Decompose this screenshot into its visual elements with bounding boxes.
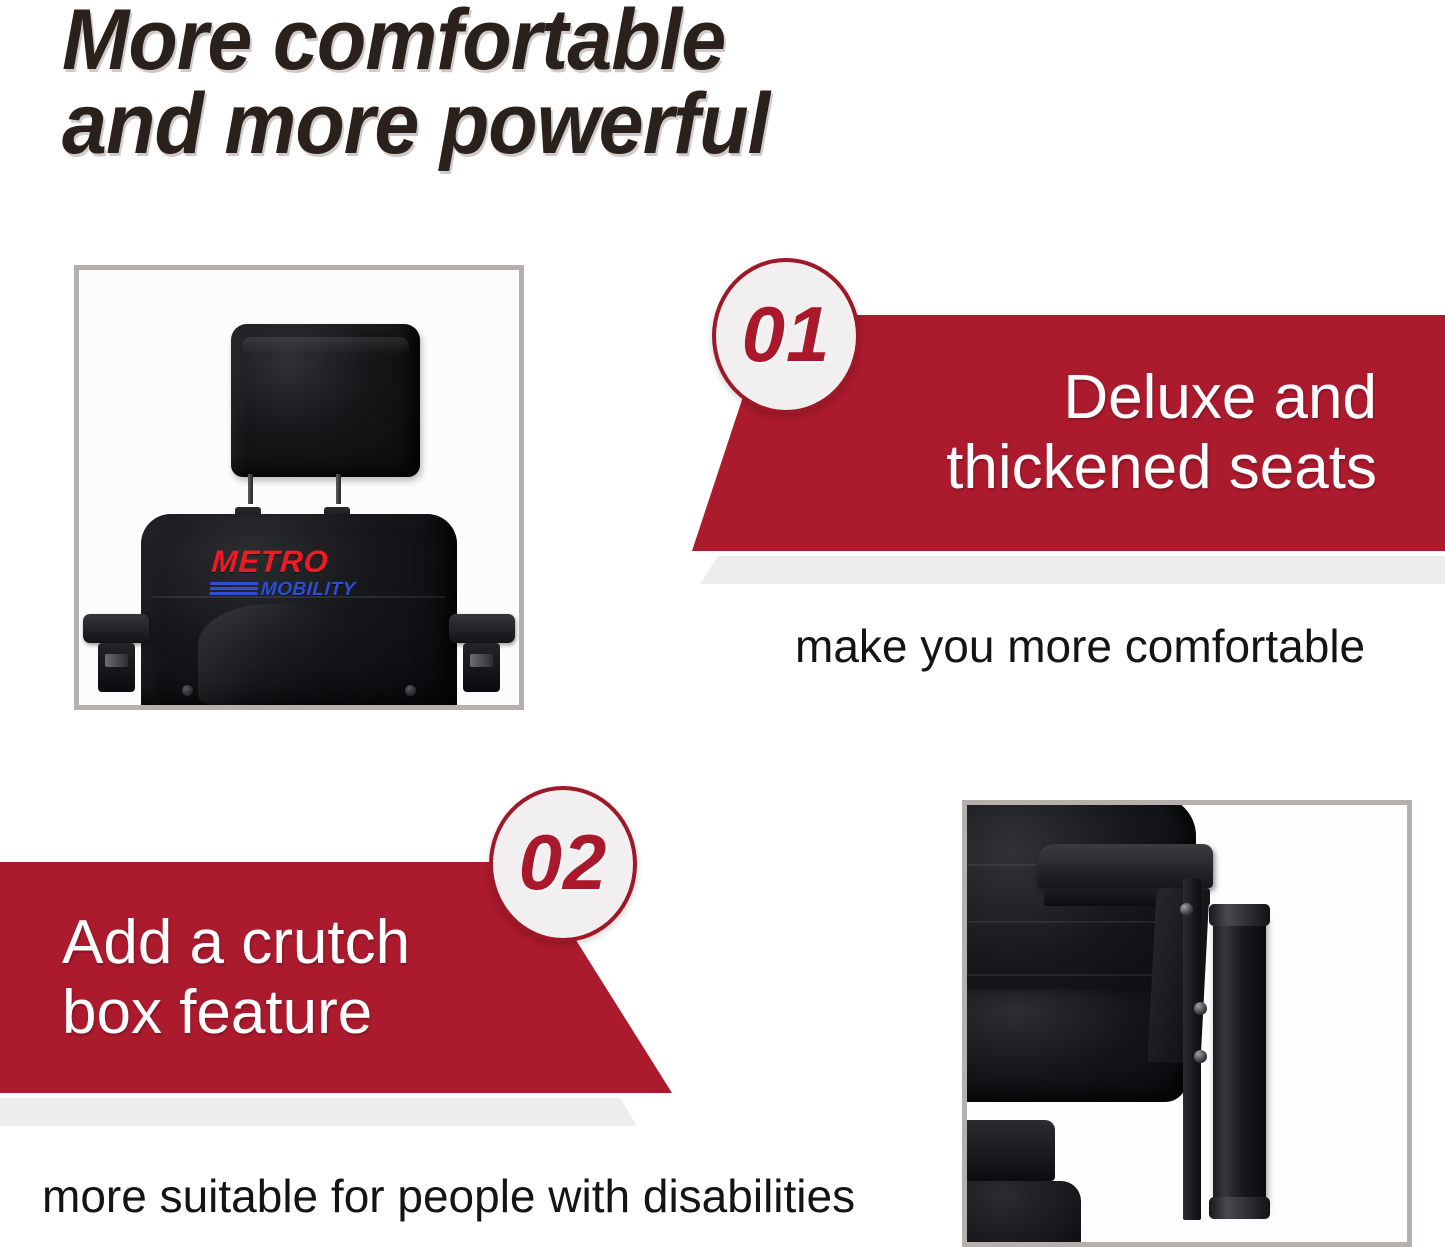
armrest-mount-left — [98, 643, 135, 692]
backrest-crease-3 — [964, 974, 1161, 976]
headrest-post-left-icon — [248, 474, 253, 504]
crutch-tube-cap-top — [1209, 904, 1270, 926]
crutch-holder-tube — [1213, 914, 1266, 1211]
armrest-mount-right — [463, 643, 500, 692]
headrest-post-right-icon — [336, 474, 341, 504]
banner-shadow-strip-02 — [0, 1098, 650, 1126]
feature-number-01: 01 — [742, 295, 831, 373]
crutch-tube-cap-bottom — [1209, 1197, 1270, 1219]
armrest-pad-left — [83, 614, 149, 644]
backrest-bolt-right-icon — [405, 685, 416, 696]
metro-mobility-logo: METRO MOBILITY — [209, 546, 358, 599]
product-photo-seat-back: METRO MOBILITY — [74, 265, 524, 710]
feature-caption-01: make you more comfortable — [795, 620, 1365, 672]
page-headline: More comfortable and more powerful — [62, 0, 1002, 166]
feature-title-02: Add a crutch box feature — [0, 908, 410, 1048]
backrest-bolt-left-icon — [182, 685, 193, 696]
frame-bolt-lower-icon — [1194, 1050, 1207, 1063]
armrest-right — [449, 614, 515, 692]
frame-bolt-middle-icon — [1194, 1002, 1207, 1015]
banner-shadow-strip-01 — [700, 556, 1445, 584]
seat-back-illustration: METRO MOBILITY — [79, 270, 519, 705]
feature-number-02: 02 — [519, 823, 608, 901]
backrest-highlight — [198, 604, 382, 706]
armrest-pad-right — [449, 614, 515, 644]
headrest-cushion — [231, 324, 420, 476]
feature-caption-02: more suitable for people with disabiliti… — [42, 1170, 855, 1222]
armrest-left — [83, 614, 149, 692]
seat-base-bracket — [962, 1120, 1055, 1181]
backrest-crease-2 — [964, 921, 1161, 923]
feature-number-badge-02: 02 — [489, 786, 637, 942]
logo-brand-secondary: MOBILITY — [260, 580, 356, 599]
product-photo-crutch-holder — [962, 800, 1412, 1247]
seat-backrest-cushion — [141, 514, 458, 710]
feature-number-badge-01: 01 — [712, 258, 860, 414]
seat-pedestal-foot — [962, 1181, 1081, 1247]
logo-brand-primary: METRO — [211, 546, 359, 577]
logo-speed-stripes-icon — [209, 582, 258, 597]
crutch-holder-illustration — [967, 805, 1407, 1242]
feature-title-01: Deluxe and thickened seats — [946, 363, 1445, 503]
